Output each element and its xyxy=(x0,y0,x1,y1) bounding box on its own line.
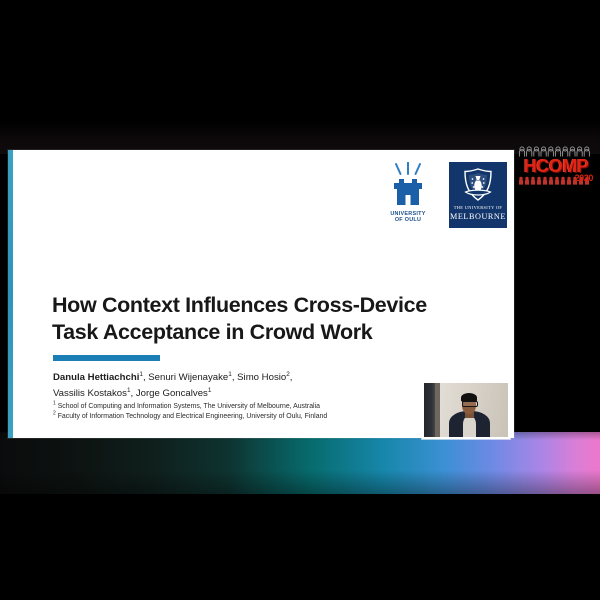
background-door-edge xyxy=(435,383,440,437)
university-logos: UNIVERSITY OF OULU xyxy=(379,162,507,228)
melbourne-crest-icon xyxy=(461,168,495,202)
affiliation-text: Faculty of Information Technology and El… xyxy=(58,413,328,420)
affiliation-item: 2 Faculty of Information Technology and … xyxy=(53,412,473,422)
author-line1-end: , xyxy=(290,372,293,383)
presenter-shirt xyxy=(463,416,476,437)
oulu-tower-icon xyxy=(393,178,423,206)
affiliation-item: 1 School of Computing and Information Sy… xyxy=(53,402,473,412)
video-frame: HCOMP 2020 xyxy=(0,0,600,600)
slide-title-line-2: Task Acceptance in Crowd Work xyxy=(52,319,452,346)
author-line2-b: , Jorge Goncalves xyxy=(131,388,208,399)
presenter-video-inset[interactable] xyxy=(422,381,510,439)
author-line2-b-sup: 1 xyxy=(208,386,212,393)
author-line-1: Danula Hettiachchi1, Senuri Wijenayake1,… xyxy=(53,370,473,386)
melbourne-logo-line2: MELBOURNE xyxy=(450,212,506,221)
presenter-glasses xyxy=(462,401,477,407)
hcomp-year: 2020 xyxy=(575,173,593,183)
slide-title: How Context Influences Cross-Device Task… xyxy=(52,292,452,345)
author-line2-a: Vassilis Kostakos xyxy=(53,388,127,399)
slide-title-line-1: How Context Influences Cross-Device xyxy=(52,292,452,319)
affiliation-list: 1 School of Computing and Information Sy… xyxy=(53,402,473,422)
author-lead-name: Danula Hettiachchi xyxy=(53,372,139,383)
author-line-2: Vassilis Kostakos1, Jorge Goncalves1 xyxy=(53,386,473,402)
university-of-oulu-logo: UNIVERSITY OF OULU xyxy=(379,162,437,224)
affiliation-marker: 2 xyxy=(53,411,56,417)
affiliation-text: School of Computing and Information Syst… xyxy=(58,403,320,410)
oulu-rays-icon xyxy=(386,162,430,178)
author-list: Danula Hettiachchi1, Senuri Wijenayake1,… xyxy=(53,370,473,401)
affiliation-marker: 1 xyxy=(53,401,56,407)
background-top-haze xyxy=(0,120,600,154)
author-line1-tail: , Simo Hosio xyxy=(232,372,286,383)
author-line1-rest: , Senuri Wijenayake xyxy=(143,372,228,383)
melbourne-logo-line1: THE UNIVERSITY OF xyxy=(454,205,502,210)
presenter-video-feed xyxy=(424,383,508,437)
university-of-melbourne-logo: THE UNIVERSITY OF MELBOURNE xyxy=(449,162,507,228)
gradient-bottom-fade xyxy=(0,470,600,600)
oulu-logo-line2: OF OULU xyxy=(390,217,425,223)
title-underline-rule xyxy=(53,355,160,361)
hcomp-conference-logo: HCOMP 2020 xyxy=(518,146,594,194)
